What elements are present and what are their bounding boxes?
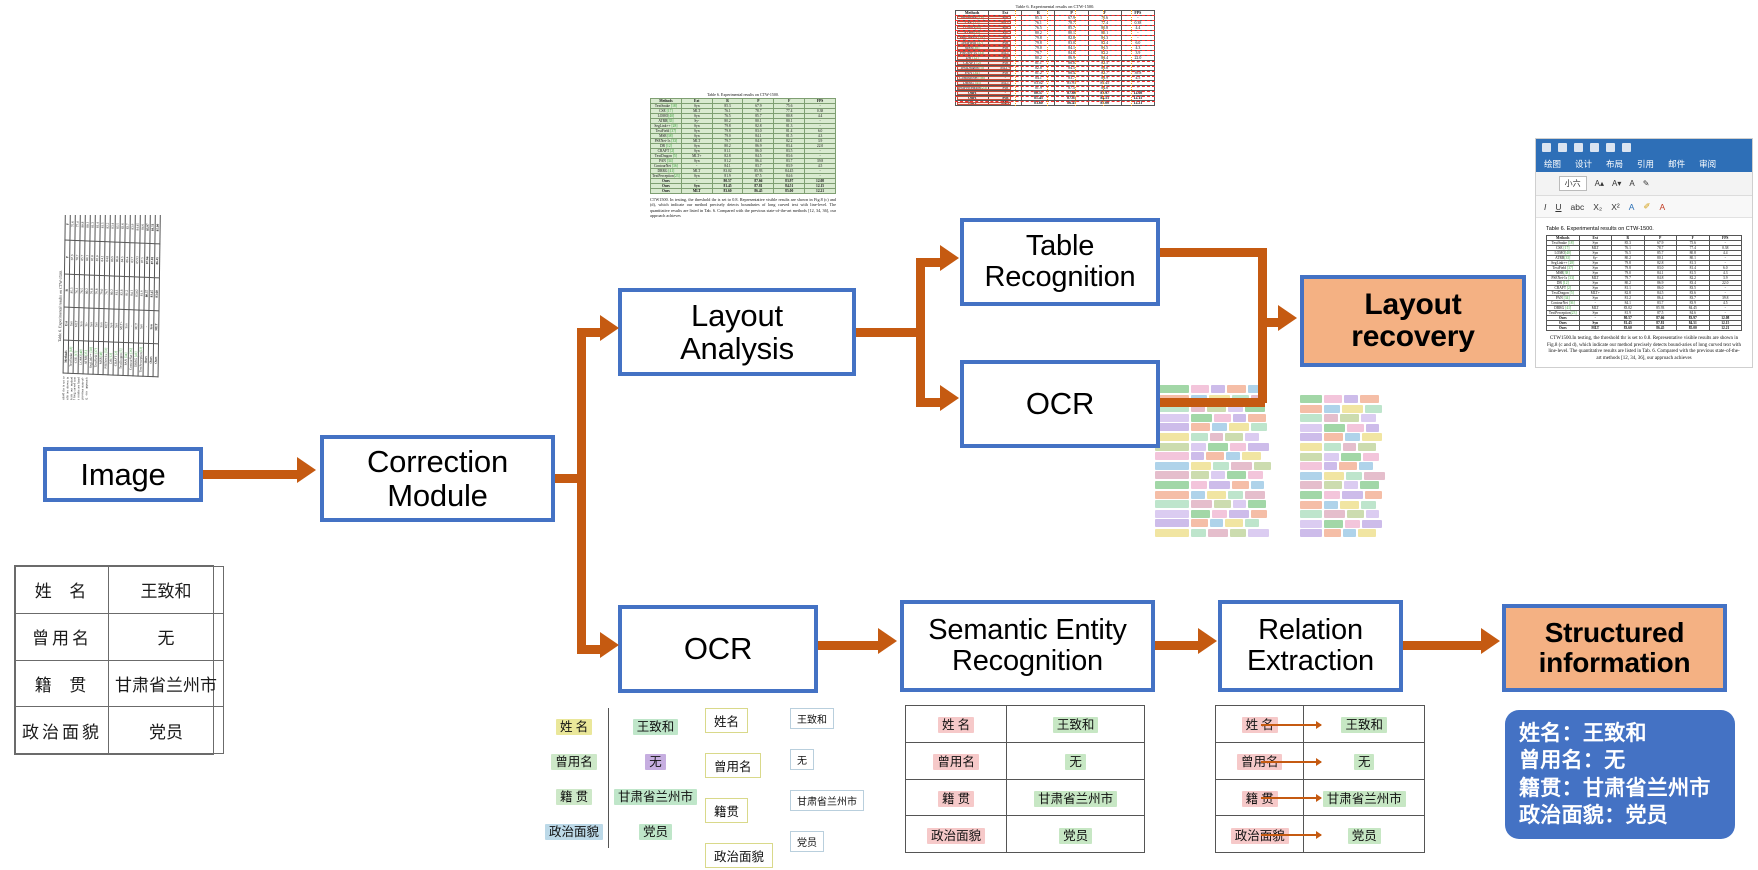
ocr-result-cell bbox=[1324, 424, 1345, 432]
re-example-row: 姓 名王致和 bbox=[1216, 706, 1425, 743]
node-relation-extraction[interactable]: Relation Extraction bbox=[1218, 600, 1403, 692]
ocr-result-cell bbox=[1324, 529, 1341, 537]
ocr-result-row bbox=[1300, 405, 1405, 413]
node-table-recognition[interactable]: Table Recognition bbox=[960, 218, 1160, 306]
ocr-result-cell bbox=[1360, 481, 1379, 489]
ocr-result-cell bbox=[1324, 472, 1344, 480]
ocr-result-row bbox=[1300, 414, 1405, 422]
ocr-result-row bbox=[1155, 443, 1285, 451]
arrow-image-to-correction bbox=[203, 470, 298, 479]
word-ribbon-tab[interactable]: 审阅 bbox=[1699, 158, 1716, 170]
arrow-layout-split-bus bbox=[916, 258, 925, 406]
ocr-result-cell bbox=[1208, 443, 1228, 451]
ocr-result-cell bbox=[1343, 529, 1356, 537]
table-cell: Ours bbox=[153, 344, 158, 377]
word-ribbon-tab[interactable]: 邮件 bbox=[1668, 158, 1685, 170]
ocr-result-cell bbox=[1341, 453, 1361, 461]
ocr-result-cell bbox=[1191, 452, 1204, 460]
arrow-ser-to-re bbox=[1155, 641, 1200, 650]
sample-results-table-detect: MethodsExtRPFFPSTextSnake [18]Syn85.367.… bbox=[955, 10, 1155, 106]
word-ribbon-tab[interactable]: 布局 bbox=[1606, 158, 1623, 170]
ocr-result-cell bbox=[1251, 510, 1267, 518]
ocr-result-cell bbox=[1324, 433, 1343, 441]
clear-format-icon[interactable]: ✎ bbox=[1643, 179, 1650, 188]
ocr-result-cell bbox=[1233, 500, 1246, 508]
example-ser-table: 姓 名王致和曾用名无籍 贯甘肃省兰州市政治面貌党员 bbox=[905, 705, 1145, 853]
ocr-result-cell bbox=[1343, 443, 1356, 451]
id-form-value: 甘肃省兰州市 bbox=[109, 660, 224, 707]
ocr-result-cell bbox=[1155, 529, 1189, 537]
id-form-row: 政治面貌党员 bbox=[16, 707, 224, 754]
ocr-example-value: 党员 bbox=[609, 813, 703, 848]
ocr-result-cell bbox=[1363, 453, 1379, 461]
ocr-result-cell bbox=[1359, 462, 1373, 470]
ocr-result-cell bbox=[1346, 472, 1362, 480]
ocr-result-cell bbox=[1212, 423, 1227, 431]
id-form-value: 王致和 bbox=[109, 567, 224, 614]
node-structured-information-label: Structured information bbox=[1533, 618, 1697, 678]
ocr-result-cell bbox=[1245, 519, 1259, 527]
ocr-result-cell bbox=[1191, 443, 1206, 451]
ocr-result-cell bbox=[1225, 433, 1243, 441]
table-cell: 83.60 bbox=[712, 189, 743, 194]
table-cell: ContourNet [36] bbox=[651, 164, 682, 169]
table-cell: 83.60 bbox=[1612, 326, 1645, 331]
ocr-result-cell bbox=[1155, 491, 1189, 499]
arrowhead-image-to-correction bbox=[297, 457, 316, 483]
ocr-result-cell bbox=[1245, 491, 1265, 499]
ocr-detached-key: 曾用名 bbox=[705, 753, 777, 778]
ocr-result-cell bbox=[1324, 501, 1338, 509]
ocr-result-row bbox=[1300, 529, 1405, 537]
table-cell: MLT bbox=[1579, 326, 1612, 331]
arrowhead-bus-to-ocr-bottom bbox=[600, 632, 619, 658]
arrowhead-layout-to-ocr bbox=[940, 385, 959, 411]
structured-result-line: 曾用名：无 bbox=[1519, 747, 1721, 774]
ocr-result-row bbox=[1155, 510, 1285, 518]
ocr-result-cell bbox=[1344, 395, 1358, 403]
ocr-result-cell bbox=[1324, 443, 1341, 451]
node-semantic-entity-recognition[interactable]: Semantic Entity Recognition bbox=[900, 600, 1155, 692]
ocr-result-cell bbox=[1227, 385, 1246, 393]
arrow-split-bus bbox=[577, 332, 586, 650]
ocr-result-cell bbox=[1214, 414, 1231, 422]
sample-skewed-scan: Table 6. Experimental results on CTW-150… bbox=[18, 215, 208, 400]
ocr-result-cell bbox=[1340, 414, 1359, 422]
node-ocr-top-label: OCR bbox=[1020, 387, 1100, 420]
ocr-result-cell bbox=[1300, 472, 1322, 480]
ocr-result-cell bbox=[1324, 510, 1345, 518]
ocr-result-cell bbox=[1360, 395, 1379, 403]
ocr-result-cell bbox=[1362, 433, 1382, 441]
sample-layout-detection: Table 6. Experimental results on CTW-150… bbox=[955, 4, 1155, 176]
arrowhead-re-to-structured bbox=[1481, 628, 1500, 654]
table-cell: TextPerception[23] bbox=[1547, 311, 1580, 316]
change-case-icon[interactable]: A bbox=[1629, 179, 1634, 188]
table-cell: MLT bbox=[681, 189, 712, 194]
arrowhead-ser-to-re bbox=[1198, 628, 1217, 654]
ocr-result-row bbox=[1155, 423, 1285, 431]
ser-example-row: 政治面貌党员 bbox=[906, 816, 1145, 853]
ocr-result-cell bbox=[1324, 520, 1343, 528]
undo-icon[interactable] bbox=[1542, 143, 1551, 152]
ocr-result-cell bbox=[1358, 529, 1376, 537]
ocr-result-cell bbox=[1155, 433, 1189, 441]
ocr-result-cell bbox=[1300, 433, 1322, 441]
ocr-result-cell bbox=[1251, 423, 1267, 431]
ocr-example-value: 甘肃省兰州市 bbox=[609, 778, 703, 813]
table-cell: TextDragon [5] bbox=[956, 66, 989, 71]
ocr-result-cell bbox=[1300, 501, 1322, 509]
ocr-result-cell bbox=[1248, 471, 1263, 479]
ser-answer-cell: 党员 bbox=[1007, 816, 1145, 853]
example-ocr-detached-keys: 姓名曾用名籍贯政治面貌 bbox=[705, 708, 777, 848]
ocr-result-cell bbox=[1155, 414, 1189, 422]
more-icon[interactable] bbox=[1622, 143, 1631, 152]
ocr-result-cell bbox=[1300, 510, 1322, 518]
shrink-font-icon[interactable]: A▾ bbox=[1612, 179, 1621, 188]
ocr-result-cell bbox=[1210, 519, 1223, 527]
ocr-result-row bbox=[1300, 520, 1405, 528]
ocr-result-cell bbox=[1231, 462, 1252, 470]
ocr-result-cell bbox=[1364, 472, 1385, 480]
table-cell: Ours bbox=[956, 101, 989, 106]
table-row: OursMLT83.6086.4585.0012.21 bbox=[153, 215, 161, 377]
relation-link bbox=[1261, 761, 1321, 763]
ocr-result-cell bbox=[1155, 519, 1189, 527]
strikethrough-icon[interactable]: abc bbox=[1571, 202, 1585, 212]
word-font-ribbon[interactable]: 小六 A▴ A▾ A ✎ bbox=[1536, 172, 1752, 196]
table-cell: 83.60 bbox=[154, 277, 159, 310]
table-cell: PSENet-1s [33] bbox=[651, 139, 682, 144]
ocr-result-row bbox=[1300, 453, 1405, 461]
ocr-result-cell bbox=[1191, 519, 1208, 527]
highlight-icon[interactable]: ✐ bbox=[1643, 201, 1650, 212]
example-re-table: 姓 名王致和曾用名无籍 贯甘肃省兰州市政治面貌党员 bbox=[1215, 705, 1425, 853]
node-image[interactable]: Image bbox=[43, 447, 203, 502]
ocr-result-cell bbox=[1155, 510, 1189, 518]
arrowhead-layout-to-table bbox=[940, 245, 959, 271]
ocr-example-key: 籍 贯 bbox=[540, 778, 609, 813]
font-name-box[interactable] bbox=[1544, 179, 1551, 188]
node-table-recognition-label: Table Recognition bbox=[979, 231, 1142, 294]
ocr-result-cell bbox=[1300, 529, 1322, 537]
redo-icon[interactable] bbox=[1558, 143, 1567, 152]
arrow-ocr-top-out bbox=[1160, 398, 1265, 407]
ocr-result-cell bbox=[1155, 462, 1189, 470]
ocr-result-cell bbox=[1300, 395, 1322, 403]
node-correction-module[interactable]: Correction Module bbox=[320, 435, 555, 522]
structured-result-line: 籍贯：甘肃省兰州市 bbox=[1519, 775, 1721, 802]
ocr-result-cell bbox=[1361, 414, 1376, 422]
ocr-result-row bbox=[1155, 519, 1285, 527]
word-ribbon-tab[interactable]: 设计 bbox=[1575, 158, 1592, 170]
ocr-result-cell bbox=[1191, 423, 1210, 431]
sample-caption-corrected: Table 6. Experimental results on CTW-150… bbox=[650, 92, 836, 97]
subscript-icon[interactable]: X₂ bbox=[1593, 202, 1602, 212]
ocr-result-cell bbox=[1155, 452, 1189, 460]
node-layout-analysis[interactable]: Layout Analysis bbox=[618, 288, 856, 376]
ocr-result-cell bbox=[1191, 433, 1208, 441]
relation-link bbox=[1261, 724, 1321, 726]
ocr-result-cell bbox=[1191, 385, 1209, 393]
ocr-result-cell bbox=[1226, 452, 1240, 460]
table-cell: 12.21 bbox=[805, 189, 836, 194]
ocr-result-cell bbox=[1248, 443, 1269, 451]
table-cell: Ours bbox=[1547, 326, 1580, 331]
ocr-example-value: 无 bbox=[609, 743, 703, 778]
ocr-detached-key: 姓名 bbox=[705, 708, 777, 733]
ocr-result-cell bbox=[1212, 510, 1227, 518]
ocr-result-row bbox=[1300, 481, 1405, 489]
ocr-result-cell bbox=[1191, 529, 1206, 537]
re-example-row: 籍 贯甘肃省兰州市 bbox=[1216, 779, 1425, 816]
ocr-result-cell bbox=[1229, 510, 1249, 518]
relation-link bbox=[1261, 797, 1321, 799]
relation-link bbox=[1261, 834, 1321, 836]
ocr-result-row bbox=[1155, 452, 1285, 460]
ocr-result-cell bbox=[1211, 471, 1225, 479]
ocr-result-cell bbox=[1324, 491, 1340, 499]
node-structured-information[interactable]: Structured information bbox=[1502, 604, 1727, 692]
ocr-result-cell bbox=[1342, 405, 1363, 413]
arrow-table-out bbox=[1160, 248, 1265, 257]
ocr-result-cell bbox=[1324, 462, 1337, 470]
ocr-result-row bbox=[1300, 433, 1405, 441]
table-cell: 85.00 bbox=[1677, 326, 1710, 331]
table-cell: SegLink++ [28] bbox=[1547, 261, 1580, 266]
table-cell: 85.00 bbox=[774, 189, 805, 194]
ocr-result-row bbox=[1155, 481, 1285, 489]
ocr-result-cell bbox=[1345, 433, 1360, 441]
save-icon[interactable] bbox=[1590, 143, 1599, 152]
ocr-result-cell bbox=[1300, 491, 1322, 499]
table-cell: 12.21 bbox=[1709, 326, 1742, 331]
underline-icon[interactable]: U bbox=[1555, 202, 1561, 212]
ocr-result-cell bbox=[1345, 520, 1360, 528]
text-effects-icon[interactable]: A bbox=[1629, 202, 1635, 212]
sample-caption-detect: Table 6. Experimental results on CTW-150… bbox=[955, 4, 1155, 9]
ocr-result-row bbox=[1155, 462, 1285, 470]
ocr-result-cell bbox=[1206, 452, 1224, 460]
ocr-result-cell bbox=[1254, 462, 1271, 470]
ocr-result-row bbox=[1155, 433, 1285, 441]
input-id-form-table: 姓 名王致和曾用名无籍 贯甘肃省兰州市政治面貌党员 bbox=[14, 565, 214, 755]
ocr-result-row bbox=[1300, 424, 1405, 432]
ocr-result-cell bbox=[1155, 471, 1189, 479]
word-quick-access-toolbar[interactable] bbox=[1536, 139, 1752, 156]
ocr-result-cell bbox=[1230, 443, 1246, 451]
ser-answer-cell: 无 bbox=[1007, 742, 1145, 779]
id-form-key: 姓 名 bbox=[16, 567, 109, 614]
node-layout-recovery-label: Layout recovery bbox=[1345, 289, 1481, 354]
ocr-result-cell bbox=[1229, 423, 1249, 431]
ocr-result-cell bbox=[1344, 481, 1358, 489]
ocr-result-cell bbox=[1230, 529, 1246, 537]
ser-question-cell: 籍 贯 bbox=[906, 779, 1007, 816]
ocr-result-row bbox=[1300, 472, 1405, 480]
re-question-cell: 政治面貌 bbox=[1216, 816, 1304, 853]
ocr-result-cell bbox=[1347, 424, 1364, 432]
sample-body-text-corrected: CTW1500. In testing, the threshold thr i… bbox=[650, 197, 836, 219]
word-ribbon-tabs[interactable]: 绘图设计布局引用邮件审阅 bbox=[1536, 156, 1752, 172]
sample-results-table: MethodsExtRPFFPSTextSnake [18]Syn85.367.… bbox=[63, 215, 162, 377]
table-cell: ContourNet [36] bbox=[956, 76, 989, 81]
ocr-visualisation-right bbox=[1300, 395, 1405, 545]
node-layout-analysis-label: Layout Analysis bbox=[674, 299, 800, 366]
ser-question-cell: 曾用名 bbox=[906, 742, 1007, 779]
id-form-key: 籍 贯 bbox=[16, 660, 109, 707]
example-ocr-table: 姓 名王致和曾用名无籍 贯甘肃省兰州市政治面貌党员 bbox=[540, 708, 695, 848]
table-cell: 12.21 bbox=[1121, 101, 1154, 106]
arrow-re-to-structured bbox=[1403, 641, 1483, 650]
arrow-ocr-bottom-to-ser bbox=[818, 641, 880, 650]
table-cell: SegLink++ [28] bbox=[651, 124, 682, 129]
table-row: OursMLT83.6086.4585.0012.21 bbox=[1547, 326, 1742, 331]
ocr-example-key: 姓 名 bbox=[540, 708, 609, 743]
ocr-result-cell bbox=[1300, 443, 1322, 451]
italic-icon[interactable]: I bbox=[1544, 202, 1546, 212]
table-cell: ContourNet [36] bbox=[1547, 301, 1580, 306]
table-cell: 86.45 bbox=[1644, 326, 1677, 331]
re-question-cell: 姓 名 bbox=[1216, 706, 1304, 743]
word-doc-table: MethodsExtRPFFPSTextSnake [18]Syn85.367.… bbox=[1546, 235, 1742, 331]
structured-result-line: 姓名：王致和 bbox=[1519, 720, 1721, 747]
ocr-result-cell bbox=[1191, 500, 1212, 508]
node-relation-extraction-label: Relation Extraction bbox=[1241, 615, 1380, 678]
re-example-row: 政治面貌党员 bbox=[1216, 816, 1425, 853]
node-correction-module-label: Correction Module bbox=[361, 445, 514, 512]
table-cell: TextDragon [5] bbox=[651, 154, 682, 159]
ocr-result-cell bbox=[1191, 481, 1207, 489]
word-document-window: 绘图设计布局引用邮件审阅 小六 A▴ A▾ A ✎ I U abc X₂ X² … bbox=[1535, 138, 1753, 368]
ser-example-row: 姓 名王致和 bbox=[906, 706, 1145, 743]
id-form-value: 党员 bbox=[109, 707, 224, 754]
ocr-result-row bbox=[1300, 491, 1405, 499]
diagram-canvas: Table 6. Experimental results on CTW-150… bbox=[0, 0, 1758, 870]
ocr-result-row bbox=[1155, 491, 1285, 499]
superscript-icon[interactable]: X² bbox=[1611, 202, 1620, 212]
ocr-result-row bbox=[1300, 443, 1405, 451]
ocr-result-cell bbox=[1208, 529, 1228, 537]
sample-body-text: CTW1500. In testing, the threshold thr i… bbox=[62, 377, 159, 400]
ocr-detached-value: 无 bbox=[790, 749, 880, 770]
word-paragraph-ribbon[interactable]: I U abc X₂ X² A ✐ A bbox=[1536, 196, 1752, 218]
ocr-result-row bbox=[1155, 500, 1285, 508]
ocr-detached-value: 王致和 bbox=[790, 708, 880, 729]
word-doc-body: CTW1500.In testing, the threshold thr is… bbox=[1546, 336, 1742, 362]
ocr-result-cell bbox=[1155, 481, 1189, 489]
node-ser-label: Semantic Entity Recognition bbox=[922, 615, 1132, 678]
example-ocr-detached-values: 王致和无甘肃省兰州市党员 bbox=[790, 708, 880, 848]
ser-question-cell: 政治面貌 bbox=[906, 816, 1007, 853]
arrow-layout-out bbox=[856, 328, 924, 337]
ocr-result-cell bbox=[1324, 395, 1342, 403]
ocr-result-cell bbox=[1300, 462, 1322, 470]
new-icon[interactable] bbox=[1606, 143, 1615, 152]
ser-answer-cell: 王致和 bbox=[1007, 706, 1145, 743]
ocr-result-row bbox=[1155, 529, 1285, 537]
ocr-detached-key: 政治面貌 bbox=[705, 843, 777, 868]
ocr-result-row bbox=[1300, 501, 1405, 509]
word-doc-caption: Table 6. Experimental results on CTW-150… bbox=[1546, 226, 1742, 232]
re-question-cell: 曾用名 bbox=[1216, 742, 1304, 779]
ocr-example-row: 曾用名无 bbox=[540, 743, 702, 778]
ocr-result-cell bbox=[1227, 471, 1246, 479]
ocr-result-cell bbox=[1300, 520, 1322, 528]
table-cell: TextPerception[23] bbox=[651, 174, 682, 179]
table-cell: TextPerception[23] bbox=[956, 86, 989, 91]
ocr-result-cell bbox=[1365, 491, 1382, 499]
arrowhead-ocr-bottom-to-ser bbox=[878, 628, 897, 654]
table-row: OursMLT83.6086.4585.0012.21 bbox=[651, 189, 836, 194]
id-form-row: 姓 名王致和 bbox=[16, 567, 224, 614]
ocr-result-cell bbox=[1155, 385, 1189, 393]
ocr-result-cell bbox=[1232, 481, 1249, 489]
ocr-result-cell bbox=[1251, 481, 1264, 489]
table-cell: 85.00 bbox=[155, 215, 160, 244]
ocr-result-cell bbox=[1155, 500, 1189, 508]
ocr-result-cell bbox=[1300, 414, 1322, 422]
ocr-result-cell bbox=[1340, 501, 1359, 509]
font-size-box[interactable]: 小六 bbox=[1559, 176, 1587, 191]
structured-result-line: 政治面貌：党员 bbox=[1519, 802, 1721, 829]
table-cell: Ours bbox=[651, 189, 682, 194]
ocr-result-cell bbox=[1191, 414, 1212, 422]
re-question-cell: 籍 贯 bbox=[1216, 779, 1304, 816]
ocr-result-cell bbox=[1365, 405, 1382, 413]
ocr-result-cell bbox=[1347, 510, 1364, 518]
ocr-result-cell bbox=[1245, 433, 1259, 441]
id-form-value: 无 bbox=[109, 613, 224, 660]
ocr-result-cell bbox=[1324, 481, 1342, 489]
ocr-result-cell bbox=[1324, 453, 1339, 461]
font-color-icon[interactable]: A bbox=[1660, 202, 1666, 212]
ser-example-row: 曾用名无 bbox=[906, 742, 1145, 779]
node-image-label: Image bbox=[74, 458, 171, 491]
id-form-row: 籍 贯甘肃省兰州市 bbox=[16, 660, 224, 707]
word-ribbon-tab[interactable]: 引用 bbox=[1637, 158, 1654, 170]
node-ocr-top[interactable]: OCR bbox=[960, 360, 1160, 448]
ocr-result-cell bbox=[1211, 385, 1225, 393]
ocr-result-row bbox=[1300, 510, 1405, 518]
arrowhead-to-layout-recovery bbox=[1278, 305, 1297, 331]
print-icon[interactable] bbox=[1574, 143, 1583, 152]
ser-answer-cell: 甘肃省兰州市 bbox=[1007, 779, 1145, 816]
sample-results-table-green: MethodsExtRPFFPSTextSnake [18]Syn85.367.… bbox=[650, 98, 836, 194]
ocr-result-row bbox=[1300, 395, 1405, 403]
ocr-result-cell bbox=[1210, 433, 1223, 441]
ocr-result-cell bbox=[1248, 529, 1269, 537]
ocr-result-cell bbox=[1248, 414, 1266, 422]
ocr-result-cell bbox=[1324, 414, 1338, 422]
ocr-detached-key: 籍贯 bbox=[705, 798, 777, 823]
ocr-result-cell bbox=[1191, 462, 1211, 470]
sample-corrected-scan: Table 6. Experimental results on CTW-150… bbox=[650, 92, 836, 260]
word-ribbon-tab[interactable]: 绘图 bbox=[1544, 158, 1561, 170]
ocr-result-cell bbox=[1214, 500, 1231, 508]
node-layout-recovery[interactable]: Layout recovery bbox=[1300, 275, 1526, 367]
table-cell: TextSnake [18] bbox=[651, 104, 682, 109]
ocr-result-cell bbox=[1366, 510, 1379, 518]
ocr-example-row: 姓 名王致和 bbox=[540, 708, 702, 743]
grow-font-icon[interactable]: A▴ bbox=[1595, 179, 1604, 188]
ocr-result-cell bbox=[1242, 452, 1261, 460]
ocr-result-cell bbox=[1300, 424, 1322, 432]
node-ocr-bottom[interactable]: OCR bbox=[618, 605, 818, 693]
id-form-key: 政治面貌 bbox=[16, 707, 109, 754]
id-form-row: 曾用名无 bbox=[16, 613, 224, 660]
